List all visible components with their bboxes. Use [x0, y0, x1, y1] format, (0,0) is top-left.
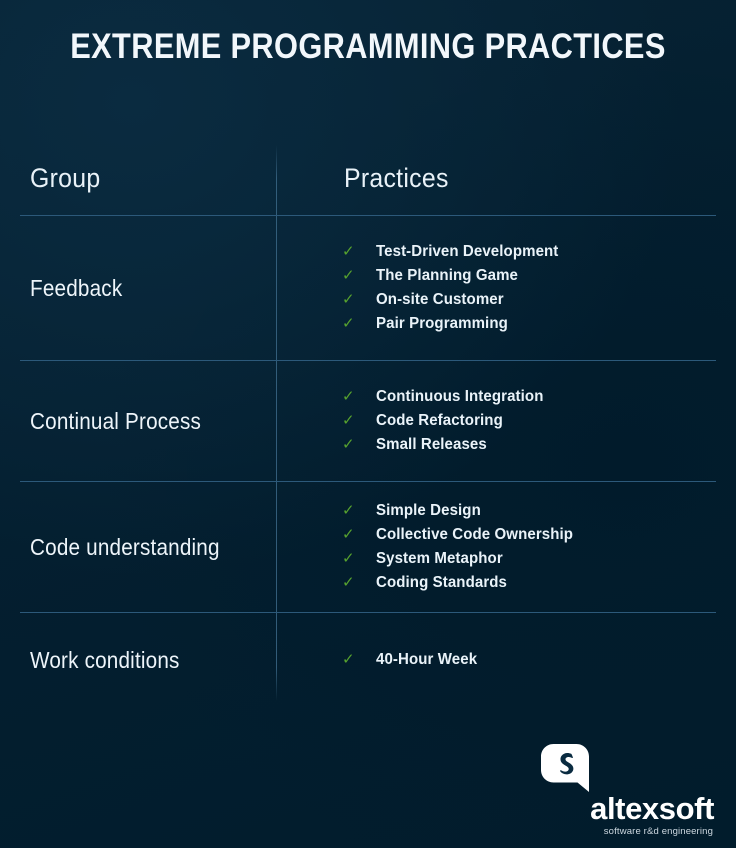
practice-label: The Planning Game	[376, 264, 518, 288]
column-header-practices-label: Practices	[344, 162, 686, 194]
practice-label: Test-Driven Development	[376, 240, 558, 264]
list-item: ✓ The Planning Game	[342, 264, 716, 288]
check-icon: ✓	[342, 312, 376, 336]
check-icon: ✓	[342, 571, 376, 595]
practices-cell: ✓ Simple Design ✓ Collective Code Owners…	[276, 499, 716, 595]
check-icon: ✓	[342, 288, 376, 312]
group-cell: Code understanding	[20, 532, 276, 562]
table-row: Feedback ✓ Test-Driven Development ✓ The…	[20, 216, 716, 361]
logo-wordmark: altexsoft	[590, 792, 714, 826]
practice-label: On-site Customer	[376, 288, 504, 312]
list-item: ✓ On-site Customer	[342, 288, 716, 312]
check-icon: ✓	[342, 648, 376, 672]
check-icon: ✓	[342, 499, 376, 523]
check-icon: ✓	[342, 523, 376, 547]
group-label: Feedback	[30, 273, 251, 303]
practice-label: 40-Hour Week	[376, 648, 477, 672]
check-icon: ✓	[342, 385, 376, 409]
practice-label: Pair Programming	[376, 312, 508, 336]
group-cell: Continual Process	[20, 406, 276, 436]
practices-table: Group Practices Feedback ✓ Test-Driven D…	[20, 140, 716, 707]
speech-bubble-icon	[541, 744, 589, 792]
column-header-group-label: Group	[30, 162, 256, 194]
check-icon: ✓	[342, 433, 376, 457]
poster-canvas: EXTREME PROGRAMMING PRACTICES Group Prac…	[0, 0, 736, 848]
table-header-row: Group Practices	[20, 140, 716, 216]
brand-logo: altexsoft software r&d engineering	[524, 744, 714, 830]
list-item: ✓ System Metaphor	[342, 547, 716, 571]
list-item: ✓ Pair Programming	[342, 312, 716, 336]
list-item: ✓ Code Refactoring	[342, 409, 716, 433]
check-icon: ✓	[342, 547, 376, 571]
table-row: Work conditions ✓ 40-Hour Week	[20, 613, 716, 707]
list-item: ✓ Simple Design	[342, 499, 716, 523]
page-title: EXTREME PROGRAMMING PRACTICES	[44, 26, 692, 68]
check-icon: ✓	[342, 409, 376, 433]
practice-list: ✓ Simple Design ✓ Collective Code Owners…	[342, 499, 716, 595]
table-row: Code understanding ✓ Simple Design ✓ Col…	[20, 482, 716, 613]
check-icon: ✓	[342, 264, 376, 288]
list-item: ✓ Small Releases	[342, 433, 716, 457]
table-row: Continual Process ✓ Continuous Integrati…	[20, 361, 716, 482]
practices-cell: ✓ Continuous Integration ✓ Code Refactor…	[276, 385, 716, 457]
group-label: Continual Process	[30, 406, 251, 436]
practice-label: Simple Design	[376, 499, 481, 523]
group-cell: Feedback	[20, 273, 276, 303]
practice-label: Continuous Integration	[376, 385, 543, 409]
group-label: Code understanding	[30, 532, 251, 562]
practice-list: ✓ Continuous Integration ✓ Code Refactor…	[342, 385, 716, 457]
list-item: ✓ Continuous Integration	[342, 385, 716, 409]
practice-label: Coding Standards	[376, 571, 507, 595]
check-icon: ✓	[342, 240, 376, 264]
list-item: ✓ 40-Hour Week	[342, 648, 716, 672]
list-item: ✓ Collective Code Ownership	[342, 523, 716, 547]
list-item: ✓ Coding Standards	[342, 571, 716, 595]
list-item: ✓ Test-Driven Development	[342, 240, 716, 264]
practice-label: Collective Code Ownership	[376, 523, 573, 547]
practice-list: ✓ Test-Driven Development ✓ The Planning…	[342, 240, 716, 336]
practice-label: System Metaphor	[376, 547, 503, 571]
practice-list: ✓ 40-Hour Week	[342, 648, 716, 672]
practice-label: Code Refactoring	[376, 409, 503, 433]
logo-tagline: software r&d engineering	[604, 826, 713, 838]
group-cell: Work conditions	[20, 645, 276, 675]
header-cell-group: Group	[20, 162, 276, 194]
header-cell-practices: Practices	[276, 162, 716, 194]
practices-cell: ✓ Test-Driven Development ✓ The Planning…	[276, 240, 716, 336]
group-label: Work conditions	[30, 645, 251, 675]
practice-label: Small Releases	[376, 433, 487, 457]
practices-cell: ✓ 40-Hour Week	[276, 648, 716, 672]
